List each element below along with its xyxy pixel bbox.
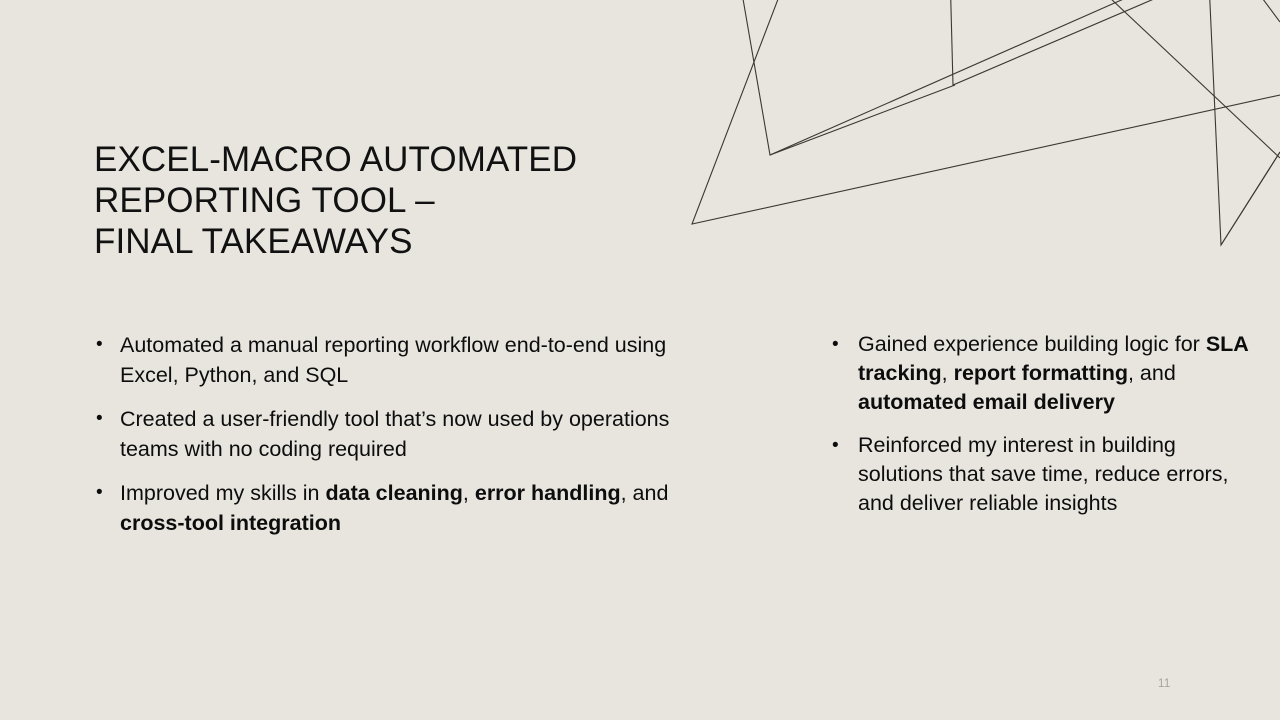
bullet-item: •Gained experience building logic for SL…	[832, 330, 1252, 417]
bullet-dot-icon: •	[96, 330, 120, 360]
bullet-text-emphasis: report formatting	[954, 361, 1128, 385]
bullet-text: Gained experience building logic for SLA…	[858, 330, 1252, 417]
bullet-column-right: •Gained experience building logic for SL…	[832, 330, 1252, 518]
bullet-text-emphasis: cross-tool integration	[120, 511, 341, 535]
bullet-text-run: Automated a manual reporting workflow en…	[120, 333, 666, 387]
bullet-text-run: Improved my skills in	[120, 481, 326, 505]
bullet-text-emphasis: automated email delivery	[858, 390, 1115, 414]
abstract-polyline-artwork-icon	[660, 0, 1280, 270]
slide-canvas: EXCEL-MACRO AUTOMATED REPORTING TOOL – F…	[0, 0, 1280, 720]
bullet-text: Reinforced my interest in building solut…	[858, 431, 1252, 518]
bullet-dot-icon: •	[96, 404, 120, 434]
bullet-text-run: ,	[463, 481, 475, 505]
bullet-text: Improved my skills in data cleaning, err…	[120, 478, 716, 538]
bullet-text-run: Reinforced my interest in building solut…	[858, 433, 1228, 515]
bullet-dot-icon: •	[96, 478, 120, 508]
bullet-text-run: , and	[621, 481, 669, 505]
bullet-text: Automated a manual reporting workflow en…	[120, 330, 716, 390]
bullet-dot-icon: •	[832, 330, 858, 359]
bullet-item: •Reinforced my interest in building solu…	[832, 431, 1252, 518]
bullet-text-run: ,	[942, 361, 954, 385]
bullet-item: •Created a user-friendly tool that’s now…	[96, 404, 716, 464]
bullet-text: Created a user-friendly tool that’s now …	[120, 404, 716, 464]
page-number: 11	[1158, 678, 1171, 690]
bullet-item: •Improved my skills in data cleaning, er…	[96, 478, 716, 538]
bullet-text-run: Gained experience building logic for	[858, 332, 1206, 356]
bullet-text-run: , and	[1128, 361, 1176, 385]
bullet-dot-icon: •	[832, 431, 858, 460]
bullet-text-emphasis: error handling	[475, 481, 621, 505]
bullet-text-run: Created a user-friendly tool that’s now …	[120, 407, 669, 461]
bullet-item: •Automated a manual reporting workflow e…	[96, 330, 716, 390]
bullet-column-left: •Automated a manual reporting workflow e…	[96, 330, 716, 538]
slide-title: EXCEL-MACRO AUTOMATED REPORTING TOOL – F…	[94, 139, 694, 262]
bullet-text-emphasis: data cleaning	[326, 481, 463, 505]
